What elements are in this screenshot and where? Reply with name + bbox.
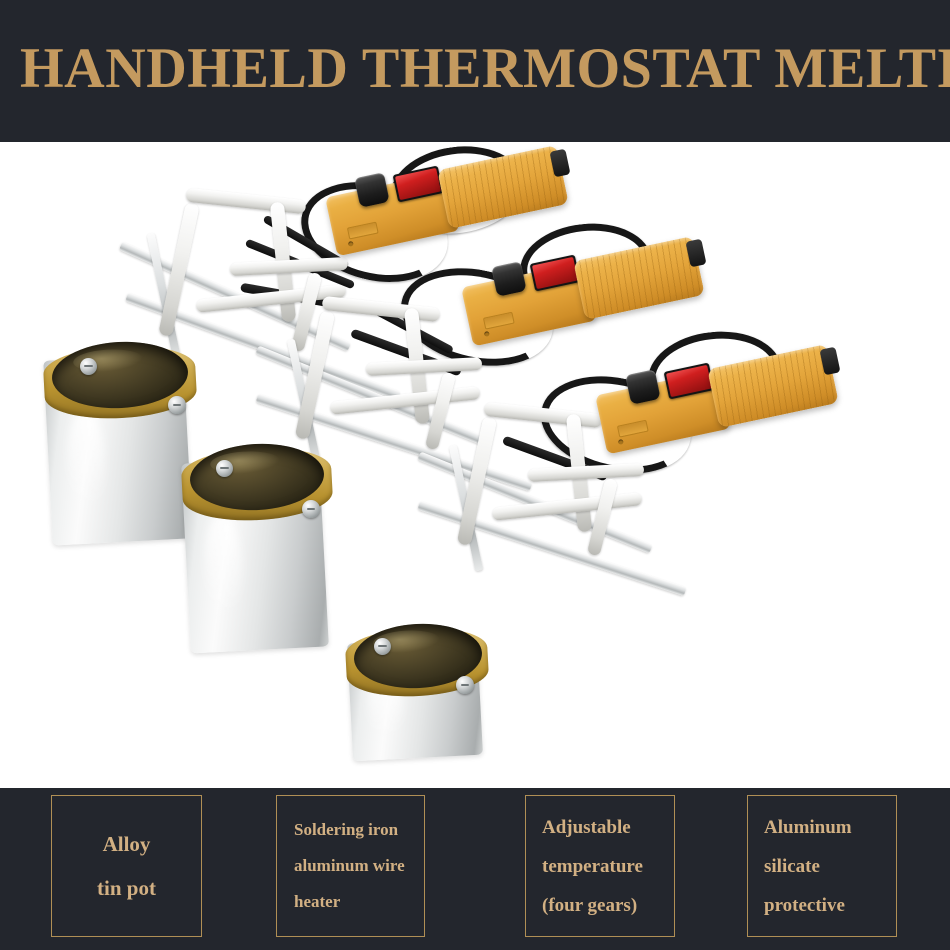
feature-line: Soldering iron — [294, 812, 398, 848]
temperature-knob-3[interactable] — [625, 369, 661, 405]
wire-handle-1-arch — [186, 188, 307, 214]
product-photo-stage — [0, 142, 950, 788]
feature-band: Alloy tin pot Soldering iron aluminum wi… — [0, 788, 950, 950]
control-box-pinhole-2 — [483, 331, 489, 337]
feature-box-aluminum-silicate-protective: Aluminum silicate protective — [747, 795, 897, 937]
header-band: HANDHELD THERMOSTAT MELTING — [0, 0, 950, 142]
feature-line: temperature — [542, 847, 643, 886]
temperature-knob-1[interactable] — [354, 172, 390, 208]
feature-line: Adjustable — [542, 808, 631, 847]
feature-box-alloy-tin-pot: Alloy tin pot — [51, 795, 202, 937]
feature-line: protective — [764, 886, 845, 925]
wire-handle-2-stem — [425, 372, 456, 451]
feature-line: aluminum wire — [294, 848, 405, 884]
pot-bolt-3b — [456, 676, 474, 694]
product-banner: HANDHELD THERMOSTAT MELTING — [0, 0, 950, 950]
control-box-pinhole-1 — [347, 241, 353, 247]
feature-line: (four gears) — [542, 886, 637, 925]
pot-bolt-2a — [216, 460, 233, 477]
feature-line: Alloy — [103, 822, 151, 866]
control-box-slot-1 — [347, 221, 378, 239]
pot-bolt-2b — [302, 500, 320, 518]
control-box-pinhole-3 — [617, 439, 623, 445]
pot-bolt-3a — [374, 638, 391, 655]
feature-line: tin pot — [97, 866, 156, 910]
product-photo — [0, 142, 950, 788]
pot-bolt-1a — [80, 358, 97, 375]
wire-handle-3-stem — [587, 478, 618, 557]
page-title: HANDHELD THERMOSTAT MELTING — [20, 33, 916, 105]
feature-box-adjustable-temperature: Adjustable temperature (four gears) — [525, 795, 675, 937]
control-box-slot-2 — [483, 311, 515, 329]
feature-line: silicate — [764, 847, 820, 886]
feature-line: heater — [294, 884, 340, 920]
temperature-knob-2[interactable] — [491, 261, 527, 297]
feature-line: Aluminum — [764, 808, 852, 847]
feature-box-soldering-iron-aluminum-wire-heater: Soldering iron aluminum wire heater — [276, 795, 425, 937]
pot-bolt-1b — [168, 396, 186, 414]
control-box-slot-3 — [617, 419, 649, 437]
